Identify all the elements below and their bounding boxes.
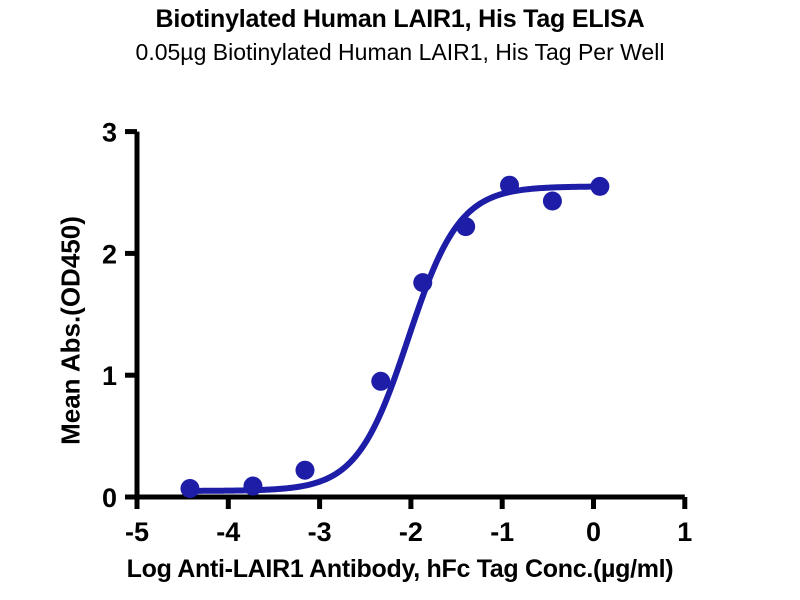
svg-text:1: 1 <box>102 361 117 391</box>
data-point <box>500 176 519 195</box>
data-point <box>543 192 562 211</box>
svg-text:2: 2 <box>102 239 117 269</box>
data-point <box>371 372 390 391</box>
svg-text:-2: -2 <box>399 517 423 547</box>
data-point <box>243 477 262 496</box>
data-points <box>180 176 609 498</box>
fit-curve <box>190 187 600 491</box>
data-point <box>456 217 475 236</box>
plot-area: -5-4-3-2-101 0123 <box>0 0 800 600</box>
svg-text:-4: -4 <box>216 517 240 547</box>
svg-text:0: 0 <box>102 483 117 513</box>
elisa-chart-figure: Biotinylated Human LAIR1, His Tag ELISA … <box>0 0 800 600</box>
svg-text:1: 1 <box>677 517 692 547</box>
svg-text:0: 0 <box>586 517 601 547</box>
data-point <box>590 177 609 196</box>
y-axis-tick-labels: 0123 <box>102 118 117 513</box>
svg-text:3: 3 <box>102 118 117 148</box>
data-point <box>295 461 314 480</box>
x-axis-tick-labels: -5-4-3-2-101 <box>125 517 692 547</box>
svg-text:-3: -3 <box>308 517 332 547</box>
svg-text:-5: -5 <box>125 517 149 547</box>
data-point <box>413 273 432 292</box>
data-point <box>180 479 199 498</box>
svg-text:-1: -1 <box>490 517 514 547</box>
